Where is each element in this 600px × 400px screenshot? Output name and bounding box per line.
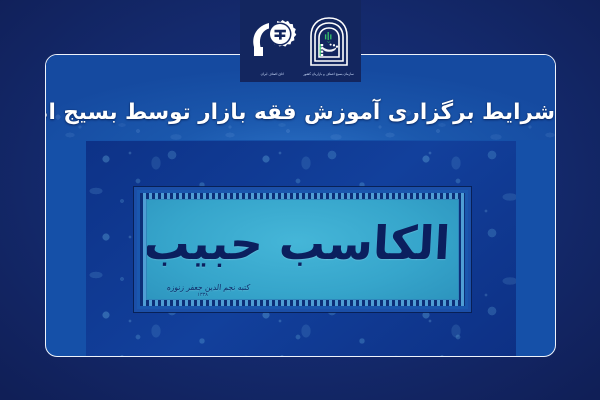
logo-strip: سازمان بسیج اصناف و بازاریان کشور xyxy=(240,0,361,82)
poster-card: شرایط برگزاری آموزش فقه بازار توسط بسیج … xyxy=(45,54,556,357)
page-title: شرایط برگزاری آموزش فقه بازار توسط بسیج … xyxy=(46,101,555,126)
calligraphy-main-text: الكاسب حبيب الله xyxy=(146,216,451,270)
calligraphy-plate-frame: الكاسب حبيب الله كتبه نجم الدين جعفر زنو… xyxy=(134,187,471,312)
calligraphy-artwork: الكاسب حبيب الله كتبه نجم الدين جعفر زنو… xyxy=(86,141,516,357)
calligraphy-field: الكاسب حبيب الله كتبه نجم الدين جعفر زنو… xyxy=(146,199,459,300)
basij-asnaf-logo-caption: سازمان بسیج اصناف و بازاریان کشور xyxy=(304,72,354,76)
calligraphy-signature: كتبه نجم الدين جعفر زنوزه xyxy=(167,283,251,292)
basij-emblem-icon xyxy=(306,15,352,71)
calligraphy-signature-date: ۱۳۳۸ xyxy=(197,292,208,298)
gear-emblem-icon xyxy=(247,17,297,71)
calligraphy-beaded-band: الكاسب حبيب الله كتبه نجم الدين جعفر زنو… xyxy=(140,193,465,306)
basij-asnaf-logo: سازمان بسیج اصناف و بازاریان کشور xyxy=(303,4,355,76)
otagh-asnaf-iran-logo-caption: اتاق اصناف ایران xyxy=(260,72,283,76)
otagh-asnaf-iran-logo: اتاق اصناف ایران xyxy=(246,4,298,76)
poster-stage: شرایط برگزاری آموزش فقه بازار توسط بسیج … xyxy=(0,0,600,400)
